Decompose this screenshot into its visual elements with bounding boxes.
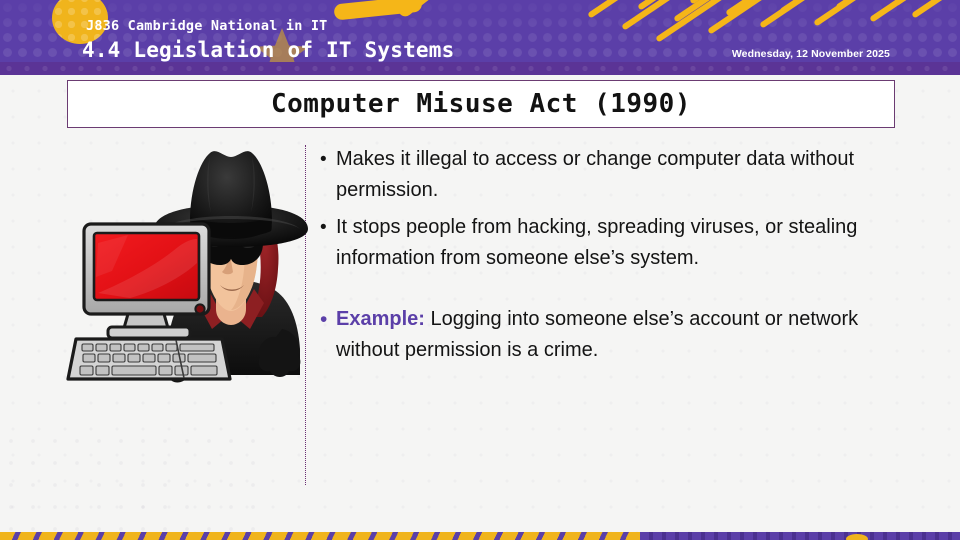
list-item-example: • Example: Logging into someone else’s a… xyxy=(320,304,898,366)
example-lead-label: Example: xyxy=(336,308,425,330)
bottom-vertical-stripes xyxy=(640,532,960,540)
bullet-text: Makes it illegal to access or change com… xyxy=(336,144,898,206)
bullet-list: • Makes it illegal to access or change c… xyxy=(320,144,898,372)
slide-header-band: J836 Cambridge National in IT 4.4 Legisl… xyxy=(0,0,960,75)
header-title-group: J836 Cambridge National in IT 4.4 Legisl… xyxy=(86,18,454,63)
slide-date-label: Wednesday, 12 November 2025 xyxy=(732,48,890,60)
header-bottom-strip xyxy=(0,62,960,75)
bullet-marker-icon: • xyxy=(320,304,336,335)
bullet-text: It stops people from hacking, spreading … xyxy=(336,212,898,274)
list-item: • Makes it illegal to access or change c… xyxy=(320,144,898,206)
list-item: • It stops people from hacking, spreadin… xyxy=(320,212,898,274)
bottom-yellow-dot-icon xyxy=(846,534,868,540)
slide-title: Computer Misuse Act (1990) xyxy=(271,89,691,119)
hacker-illustration xyxy=(58,143,308,393)
slide: J836 Cambridge National in IT 4.4 Legisl… xyxy=(0,0,960,540)
background-dot-pattern-corner xyxy=(0,430,260,540)
slide-title-box: Computer Misuse Act (1990) xyxy=(67,80,895,128)
bottom-decorative-band xyxy=(0,532,960,540)
hacker-illustration-svg xyxy=(58,143,308,393)
unit-title-label: 4.4 Legislation of IT Systems xyxy=(82,37,454,63)
course-code-label: J836 Cambridge National in IT xyxy=(86,18,454,35)
bullet-marker-icon: • xyxy=(320,144,336,175)
bullet-marker-icon: • xyxy=(320,212,336,243)
bottom-diagonal-stripes xyxy=(0,532,660,540)
bullet-text-example: Example: Logging into someone else’s acc… xyxy=(336,304,898,366)
